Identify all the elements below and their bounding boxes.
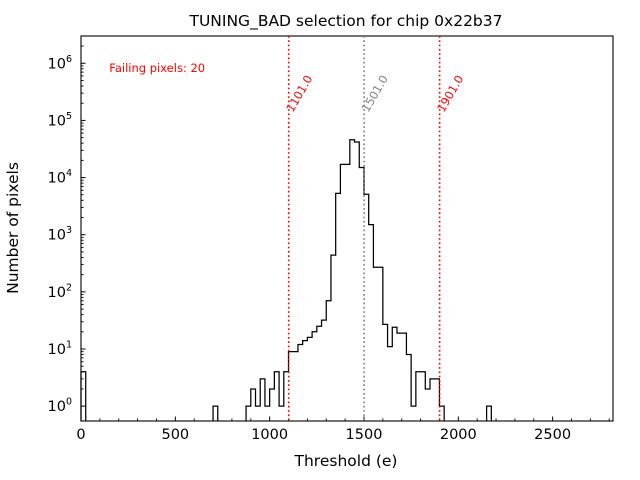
plot-border: [81, 36, 613, 421]
annotation-failing-pixels: Failing pixels: 20: [109, 61, 205, 75]
x-tick-label: 1500: [346, 427, 383, 443]
x-axis-label: Threshold (e): [294, 452, 398, 470]
y-tick-label: 105: [48, 111, 73, 130]
chart-title: TUNING_BAD selection for chip 0x22b37: [188, 12, 502, 31]
annotation-layer: Failing pixels: 20: [109, 61, 205, 75]
y-tick-label: 103: [48, 225, 73, 244]
y-tick-label: 100: [48, 397, 73, 416]
x-tick-label: 500: [161, 427, 189, 443]
histogram-series: [81, 140, 491, 421]
x-tick-label: 2000: [440, 427, 477, 443]
x-tick-label: 2500: [534, 427, 571, 443]
histogram-outline: [81, 140, 491, 421]
y-tick-label: 101: [48, 340, 73, 359]
chart-figure: TUNING_BAD selection for chip 0x22b37 05…: [0, 0, 640, 480]
y-tick-label: 106: [48, 54, 73, 73]
y-axis-label: Number of pixels: [4, 162, 22, 294]
y-tick-label: 102: [48, 282, 73, 301]
axis-frame: [81, 36, 613, 421]
x-tick-label: 1000: [251, 427, 288, 443]
y-axis-ticks: 100101102103104105106: [48, 36, 86, 415]
threshold-lines: 1101.01501.01901.0: [283, 36, 466, 421]
x-tick-label: 0: [76, 427, 85, 443]
histogram-plot: TUNING_BAD selection for chip 0x22b37 05…: [0, 0, 640, 480]
y-tick-label: 104: [48, 168, 73, 187]
